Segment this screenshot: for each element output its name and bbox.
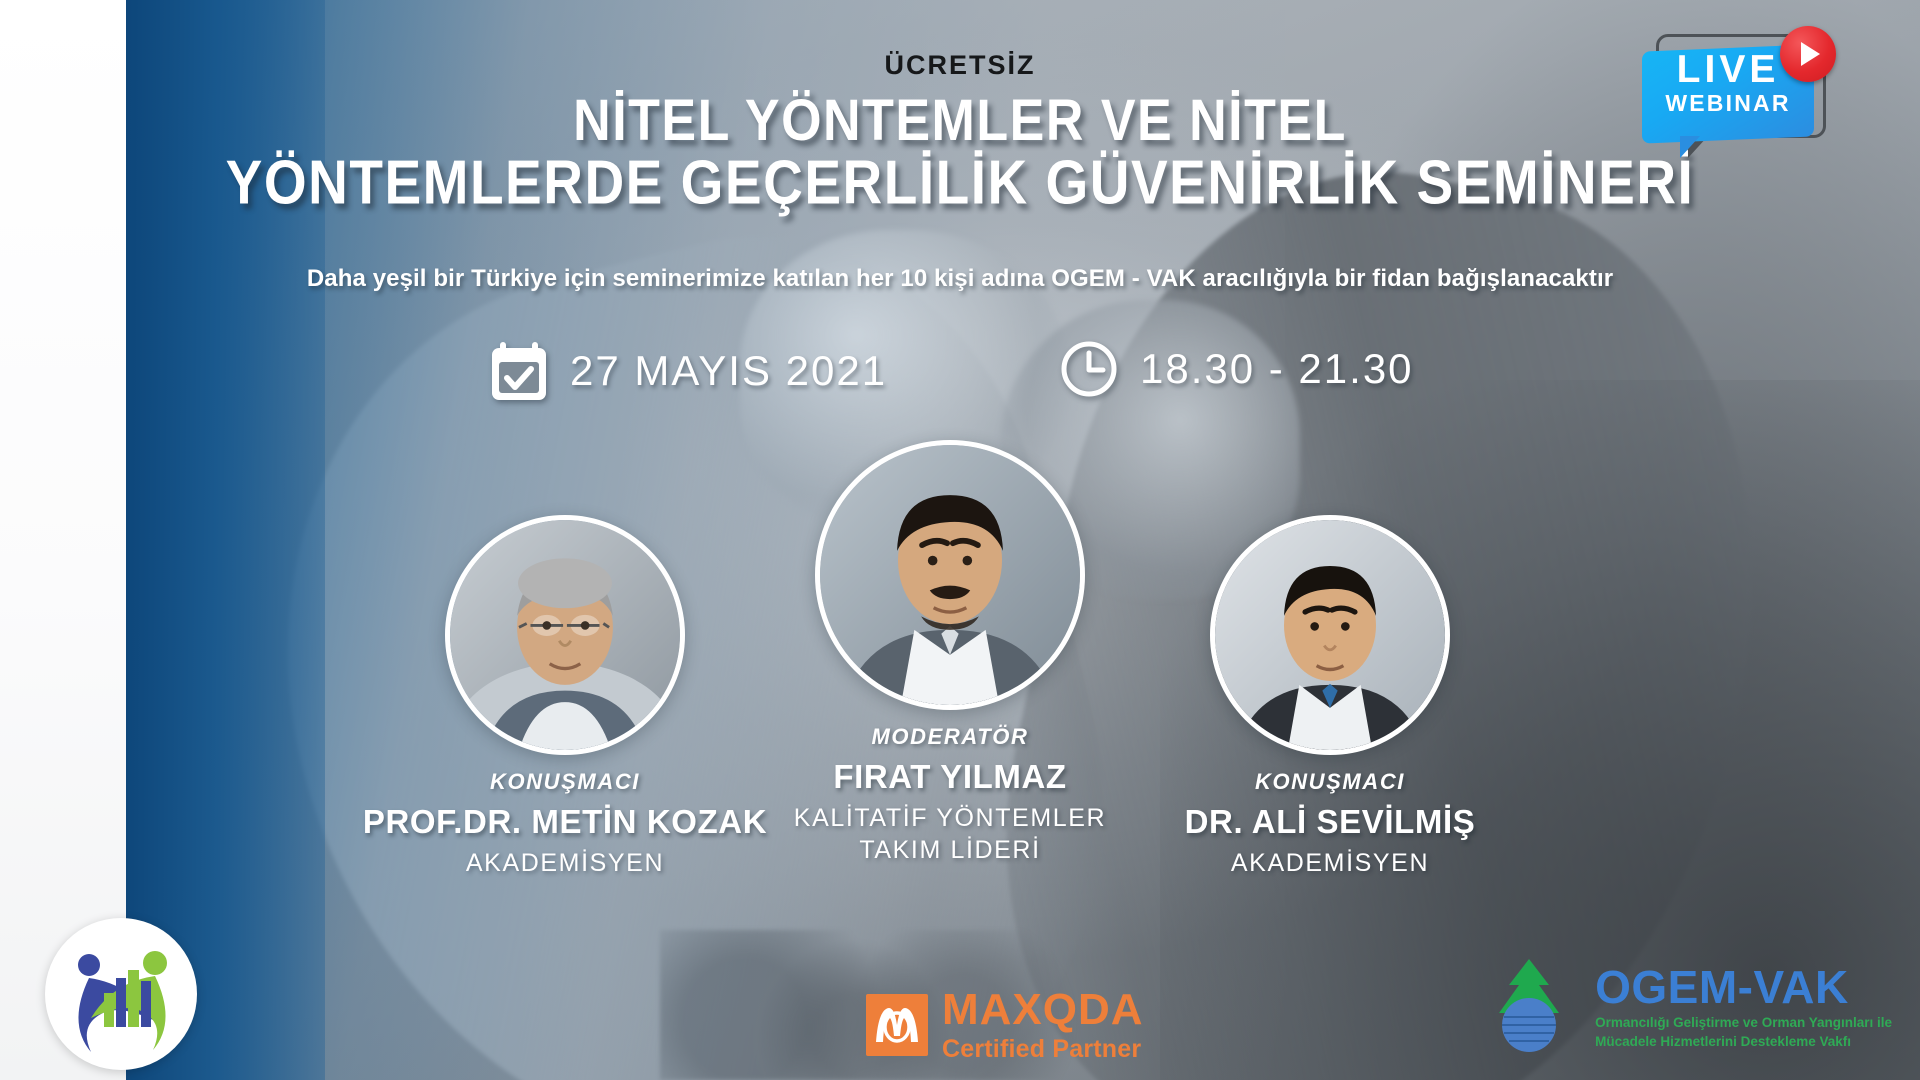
tree-globe-icon	[1475, 955, 1583, 1060]
free-label: ÜCRETSİZ	[0, 50, 1920, 81]
clock-icon	[1060, 340, 1118, 398]
event-meta-row: 27 MAYIS 2021 18.30 - 21.30	[0, 340, 1920, 430]
badge-webinar-label: WEBINAR	[1642, 89, 1814, 118]
people-bar-chart-logo-icon	[45, 918, 197, 1070]
title-line-1: NİTEL YÖNTEMLER VE NİTEL	[0, 88, 1920, 155]
brand-logo	[45, 918, 197, 1070]
maxqda-logo: MAXQDA Certified Partner	[866, 988, 1144, 1062]
play-icon	[1780, 26, 1836, 82]
page-title: NİTEL YÖNTEMLER VE NİTEL YÖNTEMLERDE GEÇ…	[0, 88, 1920, 210]
ogem-vak-text: OGEM-VAK Ormancılığı Geliştirme ve Orman…	[1595, 964, 1892, 1051]
subtitle: Daha yeşil bir Türkiye için seminerimize…	[0, 265, 1920, 293]
maxqda-m-icon	[866, 994, 928, 1056]
person-title: AKADEMİSYEN	[1090, 847, 1570, 879]
event-date-text: 27 MAYIS 2021	[570, 347, 887, 395]
person-role: KONUŞMACI	[1090, 769, 1570, 795]
maxqda-text: MAXQDA Certified Partner	[942, 988, 1144, 1062]
maxqda-name: MAXQDA	[942, 988, 1144, 1032]
avatar-photo-1	[450, 520, 680, 750]
person-card-3: KONUŞMACI DR. ALİ SEVİLMİŞ AKADEMİSYEN	[1090, 515, 1570, 879]
ogem-vak-subtitle-line1: Ormancılığı Geliştirme ve Orman Yangınla…	[1595, 1014, 1892, 1032]
webinar-poster: ÜCRETSİZ NİTEL YÖNTEMLER VE NİTEL YÖNTEM…	[0, 0, 1920, 1080]
ogem-vak-logo: OGEM-VAK Ormancılığı Geliştirme ve Orman…	[1475, 955, 1892, 1060]
avatar	[445, 515, 685, 755]
avatar	[815, 440, 1085, 710]
event-time-text: 18.30 - 21.30	[1140, 345, 1414, 393]
title-line-2: YÖNTEMLERDE GEÇERLİLİK GÜVENİRLİK SEMİNE…	[0, 147, 1920, 218]
event-date: 27 MAYIS 2021	[490, 340, 887, 402]
event-time: 18.30 - 21.30	[1060, 340, 1414, 398]
avatar	[1210, 515, 1450, 755]
avatar-photo-3	[1215, 520, 1445, 750]
person-name: DR. ALİ SEVİLMİŞ	[1090, 803, 1570, 841]
ogem-vak-subtitle-line2: Mücadele Hizmetlerini Destekleme Vakfı	[1595, 1033, 1892, 1051]
avatar-photo-2	[820, 445, 1080, 705]
maxqda-subtitle: Certified Partner	[942, 1037, 1144, 1062]
ogem-vak-name: OGEM-VAK	[1595, 964, 1892, 1010]
calendar-check-icon	[490, 340, 548, 402]
live-webinar-badge: LIVE WEBINAR	[1642, 26, 1832, 154]
